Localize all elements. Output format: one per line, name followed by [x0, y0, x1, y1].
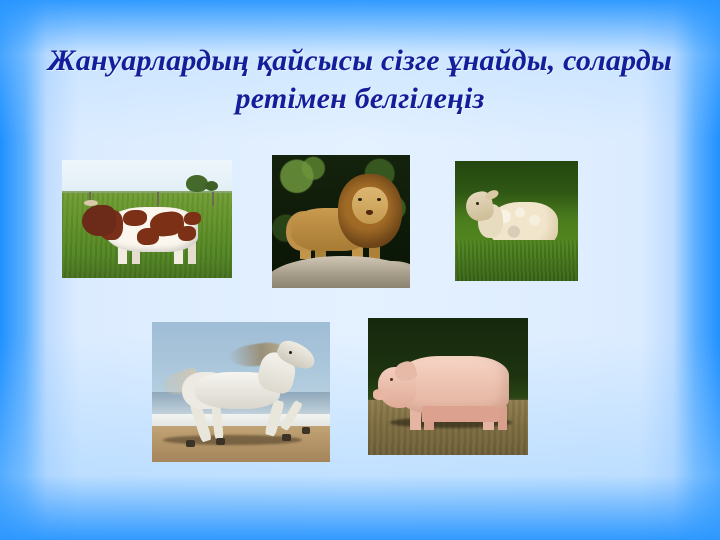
horse-hoof [216, 438, 225, 445]
lion-photo[interactable] [272, 155, 410, 288]
cow-patch [123, 210, 147, 227]
horse-hoof [302, 427, 311, 434]
pig-snout [373, 389, 387, 400]
cow-photo[interactable] [62, 160, 232, 278]
horse-photo[interactable] [152, 322, 330, 462]
cow-patch [137, 228, 159, 245]
sheep-photo[interactable] [455, 161, 578, 281]
lion-eye [377, 198, 381, 201]
fence-post [212, 192, 214, 206]
horse-hoof [282, 434, 291, 441]
cow-horn [84, 200, 98, 206]
horse-hoof [186, 440, 195, 447]
pig-photo[interactable] [368, 318, 528, 455]
cow-head [82, 205, 116, 236]
lion-eye [358, 198, 362, 201]
slide-title: Жануарлардың қайсысы сізге ұнайды, солар… [0, 42, 720, 118]
fence-post [157, 192, 159, 206]
pig-teats [422, 406, 502, 422]
sheep-eye [476, 202, 479, 205]
grass-foreground [455, 240, 578, 281]
slide-canvas: Жануарлардың қайсысы сізге ұнайды, солар… [0, 0, 720, 540]
lion-face [352, 187, 388, 224]
cow-patch [184, 212, 201, 225]
lion-nose [366, 210, 373, 215]
